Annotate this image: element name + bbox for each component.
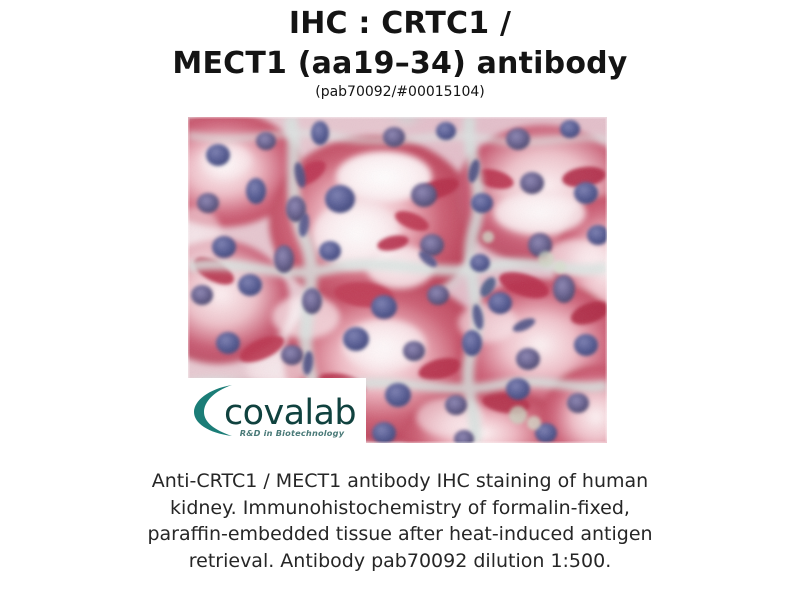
figure-caption: Anti-CRTC1 / MECT1 antibody IHC staining…	[100, 468, 700, 574]
caption-line-2: kidney. Immunohistochemistry of formalin…	[100, 495, 700, 522]
caption-line-1: Anti-CRTC1 / MECT1 antibody IHC staining…	[100, 468, 700, 495]
catalog-number: (pab70092/#00015104)	[0, 83, 800, 101]
product-figure-page: IHC : CRTC1 / MECT1 (aa19–34) antibody (…	[0, 0, 800, 600]
logo-wordmark: covalab	[224, 393, 356, 433]
caption-line-3: paraffin-embedded tissue after heat-indu…	[100, 521, 700, 548]
page-title: IHC : CRTC1 / MECT1 (aa19–34) antibody (…	[0, 4, 800, 101]
title-line-2: MECT1 (aa19–34) antibody	[0, 44, 800, 84]
logo-tagline: R&D in Biotechnology	[240, 428, 345, 438]
caption-line-4: retrieval. Antibody pab70092 dilution 1:…	[100, 548, 700, 575]
covalab-logo: covalab R&D in Biotechnology	[188, 378, 366, 443]
title-line-1: IHC : CRTC1 /	[0, 4, 800, 44]
covalab-logo-svg: covalab R&D in Biotechnology	[188, 378, 366, 443]
